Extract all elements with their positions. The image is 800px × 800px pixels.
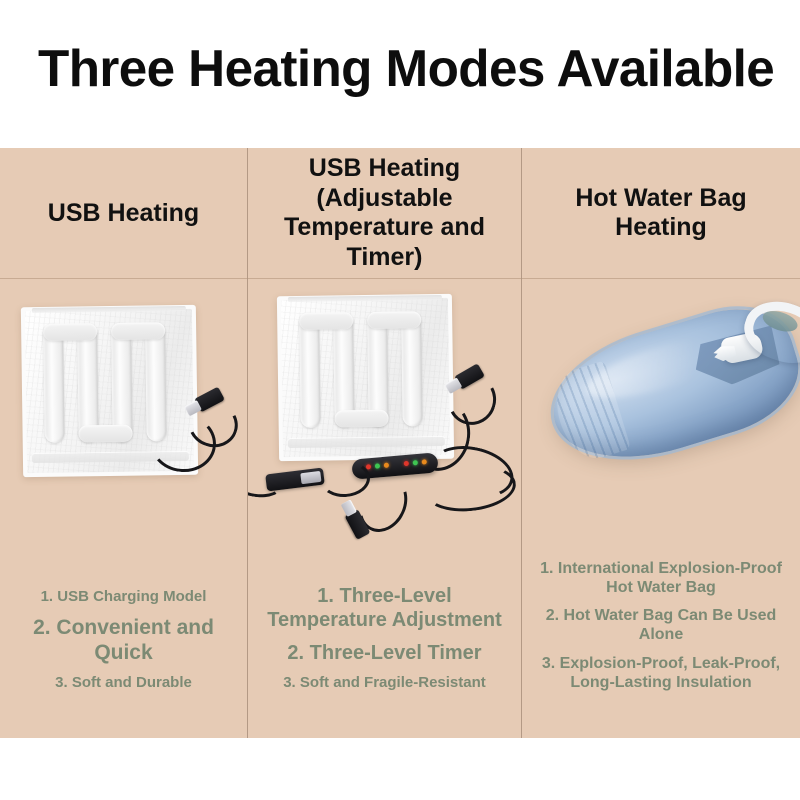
element-channel: [43, 324, 65, 443]
led-orange: [422, 459, 427, 464]
feature-item: 2. Three-Level Timer: [256, 641, 513, 665]
feature-list-2: 1. Three-Level Temperature Adjustment 2.…: [248, 584, 521, 738]
element-link-bottom: [78, 425, 132, 443]
column-header-1: USB Heating: [0, 148, 247, 278]
element-link-top: [299, 312, 353, 330]
feature-list-3: 1. International Explosion-Proof Hot Wat…: [522, 559, 800, 738]
product-image-2: [248, 279, 521, 559]
page-title: Three Heating Modes Available: [38, 40, 793, 98]
column-header-2-label: USB Heating (Adjustable Temperature and …: [284, 154, 485, 272]
heating-element-serpentine: [295, 311, 437, 428]
feature-item: 1. USB Charging Model: [8, 588, 239, 606]
element-channel: [299, 312, 321, 428]
element-link-top: [111, 322, 165, 340]
led-orange: [384, 463, 389, 468]
column-header-1-label: USB Heating: [48, 199, 199, 228]
feature-item: 2. Convenient and Quick: [8, 615, 239, 665]
element-link-top: [367, 311, 421, 329]
column-hot-water-bag: Hot Water Bag Heating 1. International E…: [522, 148, 800, 738]
product-image-1: [0, 279, 247, 559]
feature-item: 1. International Explosion-Proof Hot Wat…: [530, 559, 792, 597]
infographic-page: Three Heating Modes Available USB Heatin…: [0, 0, 800, 800]
column-header-2: USB Heating (Adjustable Temperature and …: [248, 148, 521, 278]
feature-item: 1. Three-Level Temperature Adjustment: [256, 584, 513, 632]
led-red: [404, 461, 409, 466]
element-link-bottom: [334, 410, 388, 428]
column-header-3: Hot Water Bag Heating: [522, 148, 800, 278]
feature-item: 3. Soft and Durable: [8, 674, 239, 692]
element-link-top: [43, 323, 97, 341]
column-usb-heating: USB Heating: [0, 148, 247, 738]
led-green: [413, 460, 418, 465]
feature-item: 3. Soft and Fragile-Resistant: [256, 674, 513, 692]
feature-item: 3. Explosion-Proof, Leak-Proof, Long-Las…: [530, 654, 792, 692]
product-image-3: [522, 279, 800, 559]
led-green: [375, 463, 380, 468]
title-bar: Three Heating Modes Available: [0, 0, 800, 148]
adapter-cable: [248, 461, 286, 500]
feature-item: 2. Hot Water Bag Can Be Used Alone: [530, 606, 792, 644]
controller-indicator-lights: [366, 459, 427, 469]
feature-list-1: 1. USB Charging Model 2. Convenient and …: [0, 588, 247, 738]
comparison-panel: USB Heating: [0, 148, 800, 738]
column-usb-heating-adjustable: USB Heating (Adjustable Temperature and …: [248, 148, 521, 738]
column-header-3-label: Hot Water Bag Heating: [575, 184, 746, 242]
